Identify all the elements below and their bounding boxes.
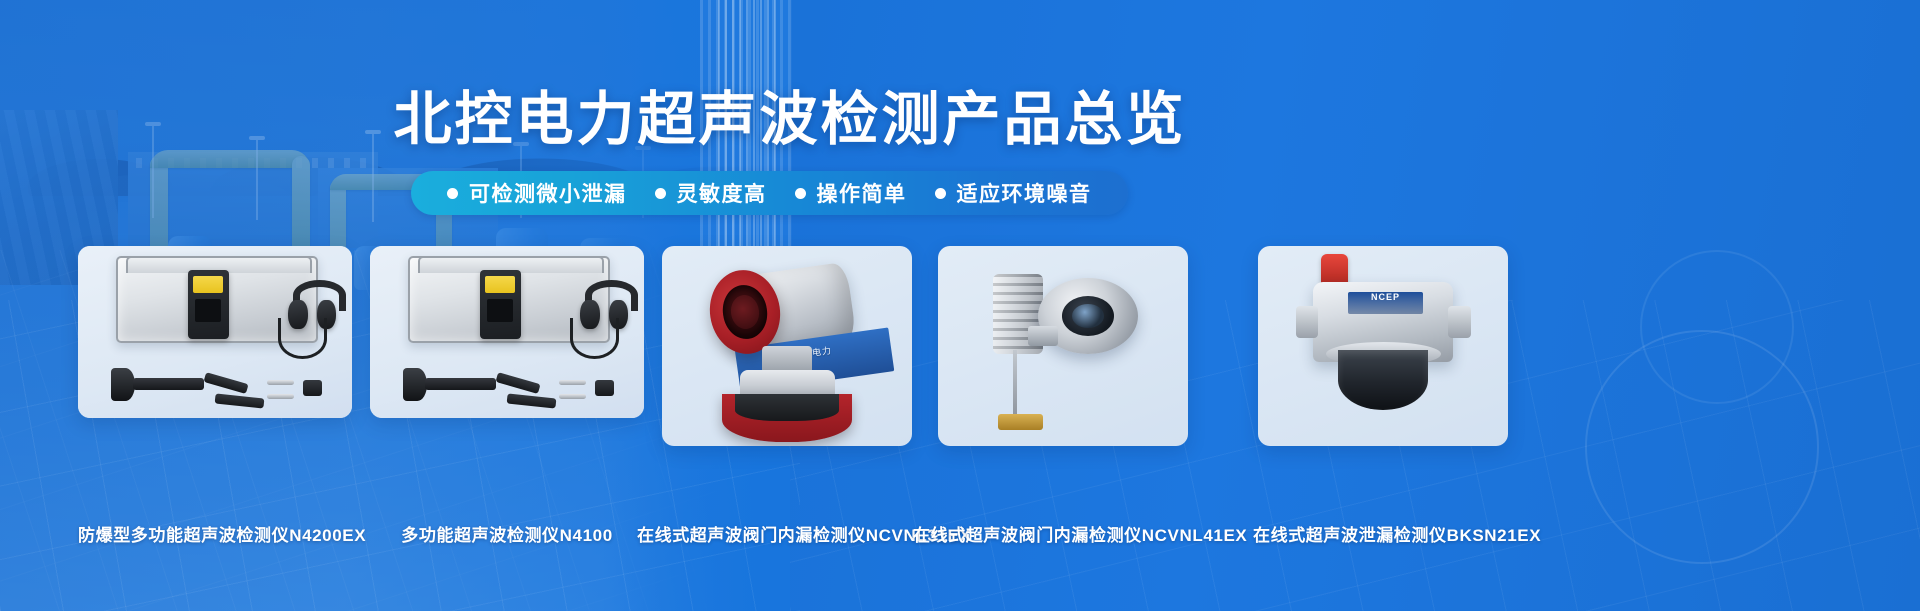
tagline-label: 灵敏度高 bbox=[677, 178, 767, 208]
feature-tagline-bar: 可检测微小泄漏 灵敏度高 操作简单 适应环境噪音 bbox=[411, 171, 1128, 215]
product-card-row: 北控电力 NCEP bbox=[0, 246, 1920, 486]
product-card-2[interactable] bbox=[370, 246, 644, 418]
product-image-ncvnl41ex bbox=[938, 246, 1188, 446]
device-brand-logo: NCEP bbox=[1348, 292, 1423, 314]
handheld-meter-icon bbox=[188, 270, 229, 339]
product-card-3[interactable]: 北控电力 bbox=[662, 246, 912, 446]
tagline-item-1: 可检测微小泄漏 bbox=[433, 178, 641, 208]
tagline-item-4: 适应环境噪音 bbox=[921, 178, 1106, 208]
bullet-dot-icon bbox=[935, 188, 946, 199]
bullet-dot-icon bbox=[655, 188, 666, 199]
product-image-n4200ex bbox=[78, 246, 352, 418]
product-caption-4: 在线式超声波阀门内漏检测仪NCVNL41EX bbox=[913, 521, 1213, 546]
product-caption-1: 防爆型多功能超声波检测仪N4200EX bbox=[78, 521, 352, 546]
tagline-label: 可检测微小泄漏 bbox=[469, 178, 627, 208]
product-image-ncvnl31ex: 北控电力 bbox=[662, 246, 912, 446]
handheld-meter-icon bbox=[480, 270, 521, 339]
parabolic-horn-icon bbox=[111, 368, 204, 401]
tagline-item-3: 操作简单 bbox=[781, 178, 921, 208]
bullet-dot-icon bbox=[795, 188, 806, 199]
product-image-bksn21ex: NCEP bbox=[1258, 246, 1508, 446]
product-image-n4100 bbox=[370, 246, 644, 418]
promo-banner: 北控电力超声波检测产品总览 可检测微小泄漏 灵敏度高 操作简单 适应环境噪音 bbox=[0, 0, 1920, 611]
pipe-clamp-mount bbox=[722, 394, 852, 442]
product-caption-3: 在线式超声波阀门内漏检测仪NCVNL31EX bbox=[637, 521, 937, 546]
product-caption-2: 多功能超声波检测仪N4100 bbox=[370, 521, 644, 546]
brass-mount-foot bbox=[998, 414, 1043, 430]
product-card-1[interactable] bbox=[78, 246, 352, 418]
product-card-5[interactable]: NCEP bbox=[1258, 246, 1508, 446]
acoustic-dome bbox=[1338, 350, 1428, 410]
tagline-item-2: 灵敏度高 bbox=[641, 178, 781, 208]
page-title: 北控电力超声波检测产品总览 bbox=[0, 72, 1580, 156]
product-card-4[interactable] bbox=[938, 246, 1188, 446]
tagline-label: 操作简单 bbox=[817, 178, 907, 208]
bullet-dot-icon bbox=[447, 188, 458, 199]
product-caption-5: 在线式超声波泄漏检测仪BKSN21EX bbox=[1253, 521, 1513, 546]
parabolic-horn-icon bbox=[403, 368, 496, 401]
tagline-label: 适应环境噪音 bbox=[957, 178, 1092, 208]
